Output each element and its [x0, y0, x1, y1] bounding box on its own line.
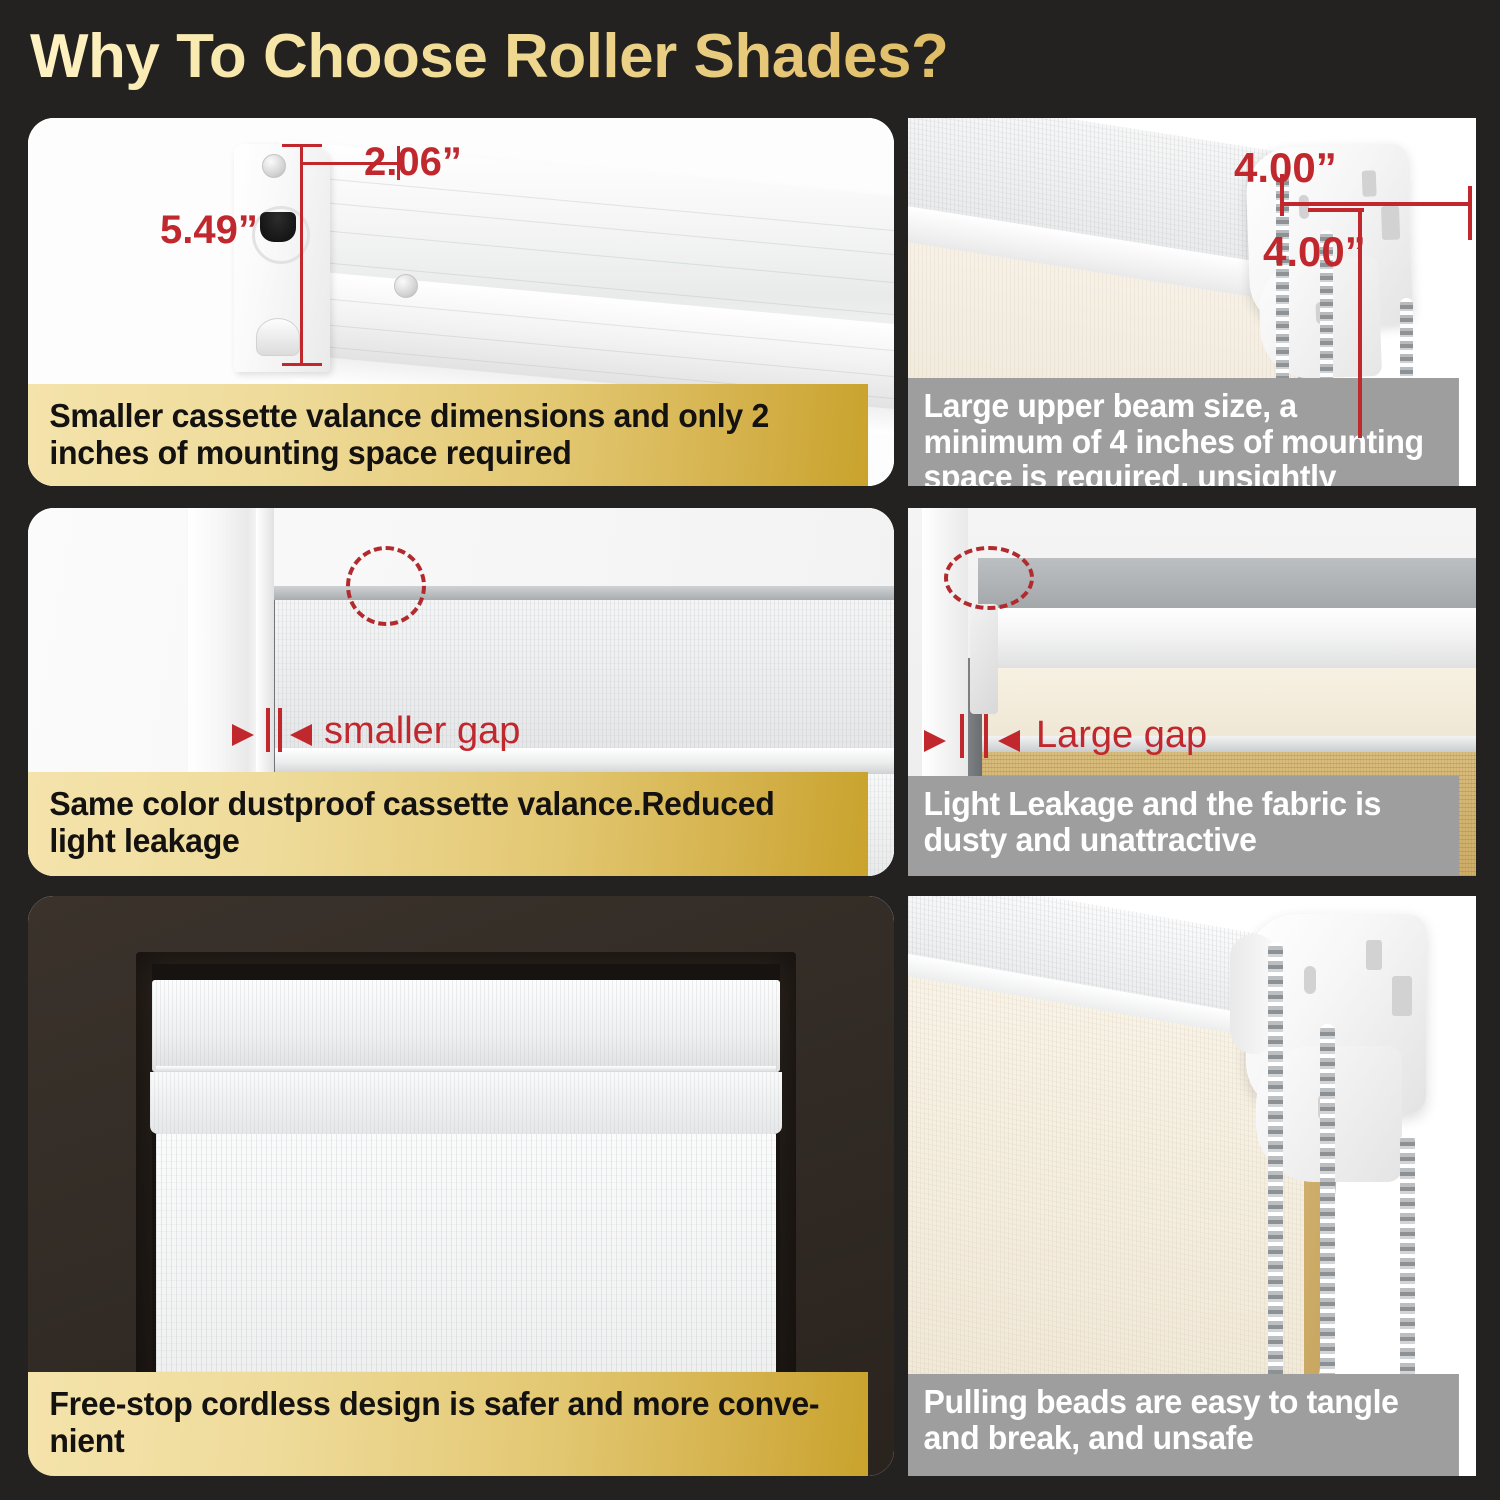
- screw-top: [262, 154, 286, 178]
- cassette-valance: [152, 980, 780, 1072]
- caption-text: Smaller cassette valance dimensions and …: [49, 398, 846, 472]
- bracket-slot-b: [1392, 976, 1412, 1016]
- bracket-slot-c: [1304, 966, 1316, 994]
- caption-bar-light-leakage: Light Leakage and the fabric is dusty an…: [908, 776, 1459, 876]
- gap-arrow-left: [924, 730, 946, 752]
- caption-bar-large-upper-beam: Large upper beam size, a minimum of 4 in…: [908, 378, 1459, 486]
- bracket-slot-c: [1299, 195, 1310, 219]
- dim-height-tick-bottom: [282, 363, 322, 366]
- caption-bar-free-stop-cordless: Free-stop cordless design is safer and m…: [28, 1372, 868, 1476]
- caption-bar-cassette-valance: Smaller cassette valance dimensions and …: [28, 384, 868, 486]
- dim-height-label: 5.49”: [160, 208, 258, 253]
- gap-arrow-right: [290, 724, 312, 746]
- panel-dustproof-cassette: smaller gap Same color dustproof cassett…: [28, 508, 894, 876]
- dim-height-tick-top: [282, 144, 322, 147]
- page-title: Why To Choose Roller Shades?: [30, 18, 1470, 96]
- gap-label: smaller gap: [324, 710, 520, 753]
- dim-width-tick-right: [1468, 186, 1472, 240]
- cassette-front-rail: [150, 1072, 782, 1134]
- bracket-slot-a: [1366, 940, 1382, 970]
- mounting-bracket: [970, 604, 998, 714]
- caption-text: Pulling beads are easy to tangle and bre…: [924, 1384, 1444, 1455]
- roller-tube: [978, 608, 1476, 674]
- gap-marker-right: [278, 708, 282, 752]
- gap-label: Large gap: [1036, 714, 1207, 757]
- end-cap-knob: [256, 318, 300, 356]
- caption-text: Light Leakage and the fabric is dusty an…: [924, 786, 1444, 857]
- caption-bar-dustproof-cassette: Same color dustproof cassette valance.Re…: [28, 772, 868, 876]
- screw-mid: [394, 274, 418, 298]
- gap-arrow-right: [998, 730, 1020, 752]
- caption-bar-pulling-beads: Pulling beads are easy to tangle and bre…: [908, 1374, 1459, 1476]
- dim-height-tick-top: [1308, 208, 1364, 212]
- highlight-circle-gap: [944, 546, 1034, 610]
- caption-text: Same color dustproof cassette valance.Re…: [49, 786, 846, 860]
- caption-text: Free-stop cordless design is safer and m…: [49, 1386, 846, 1460]
- bracket-slot-b: [1381, 206, 1400, 241]
- gap-marker-left: [266, 708, 270, 752]
- gap-marker-right: [984, 714, 988, 758]
- caption-text: Large upper beam size, a minimum of 4 in…: [924, 388, 1444, 486]
- panel-cassette-valance: 5.49” 2.06” Smaller cassette valance dim…: [28, 118, 894, 486]
- dim-width-label: 4.00”: [1234, 144, 1337, 192]
- dim-height-label: 4.00”: [1263, 228, 1366, 276]
- gap-arrow-left: [232, 724, 254, 746]
- panel-light-leakage: Large gap Light Leakage and the fabric i…: [908, 508, 1476, 876]
- panel-pulling-beads: Pulling beads are easy to tangle and bre…: [908, 896, 1476, 1476]
- gap-marker-left: [960, 714, 964, 758]
- highlight-circle-seal: [346, 546, 426, 626]
- panel-large-upper-beam: 4.00” 4.00” Large upper beam size, a min…: [908, 118, 1476, 486]
- panel-free-stop-cordless: Free-stop cordless design is safer and m…: [28, 896, 894, 1476]
- end-cap-slot: [260, 212, 296, 242]
- dim-width-tick-left: [300, 148, 303, 178]
- bracket-slot-a: [1362, 170, 1377, 196]
- dim-width-label: 2.06”: [364, 140, 462, 185]
- dim-width-line: [1280, 202, 1472, 206]
